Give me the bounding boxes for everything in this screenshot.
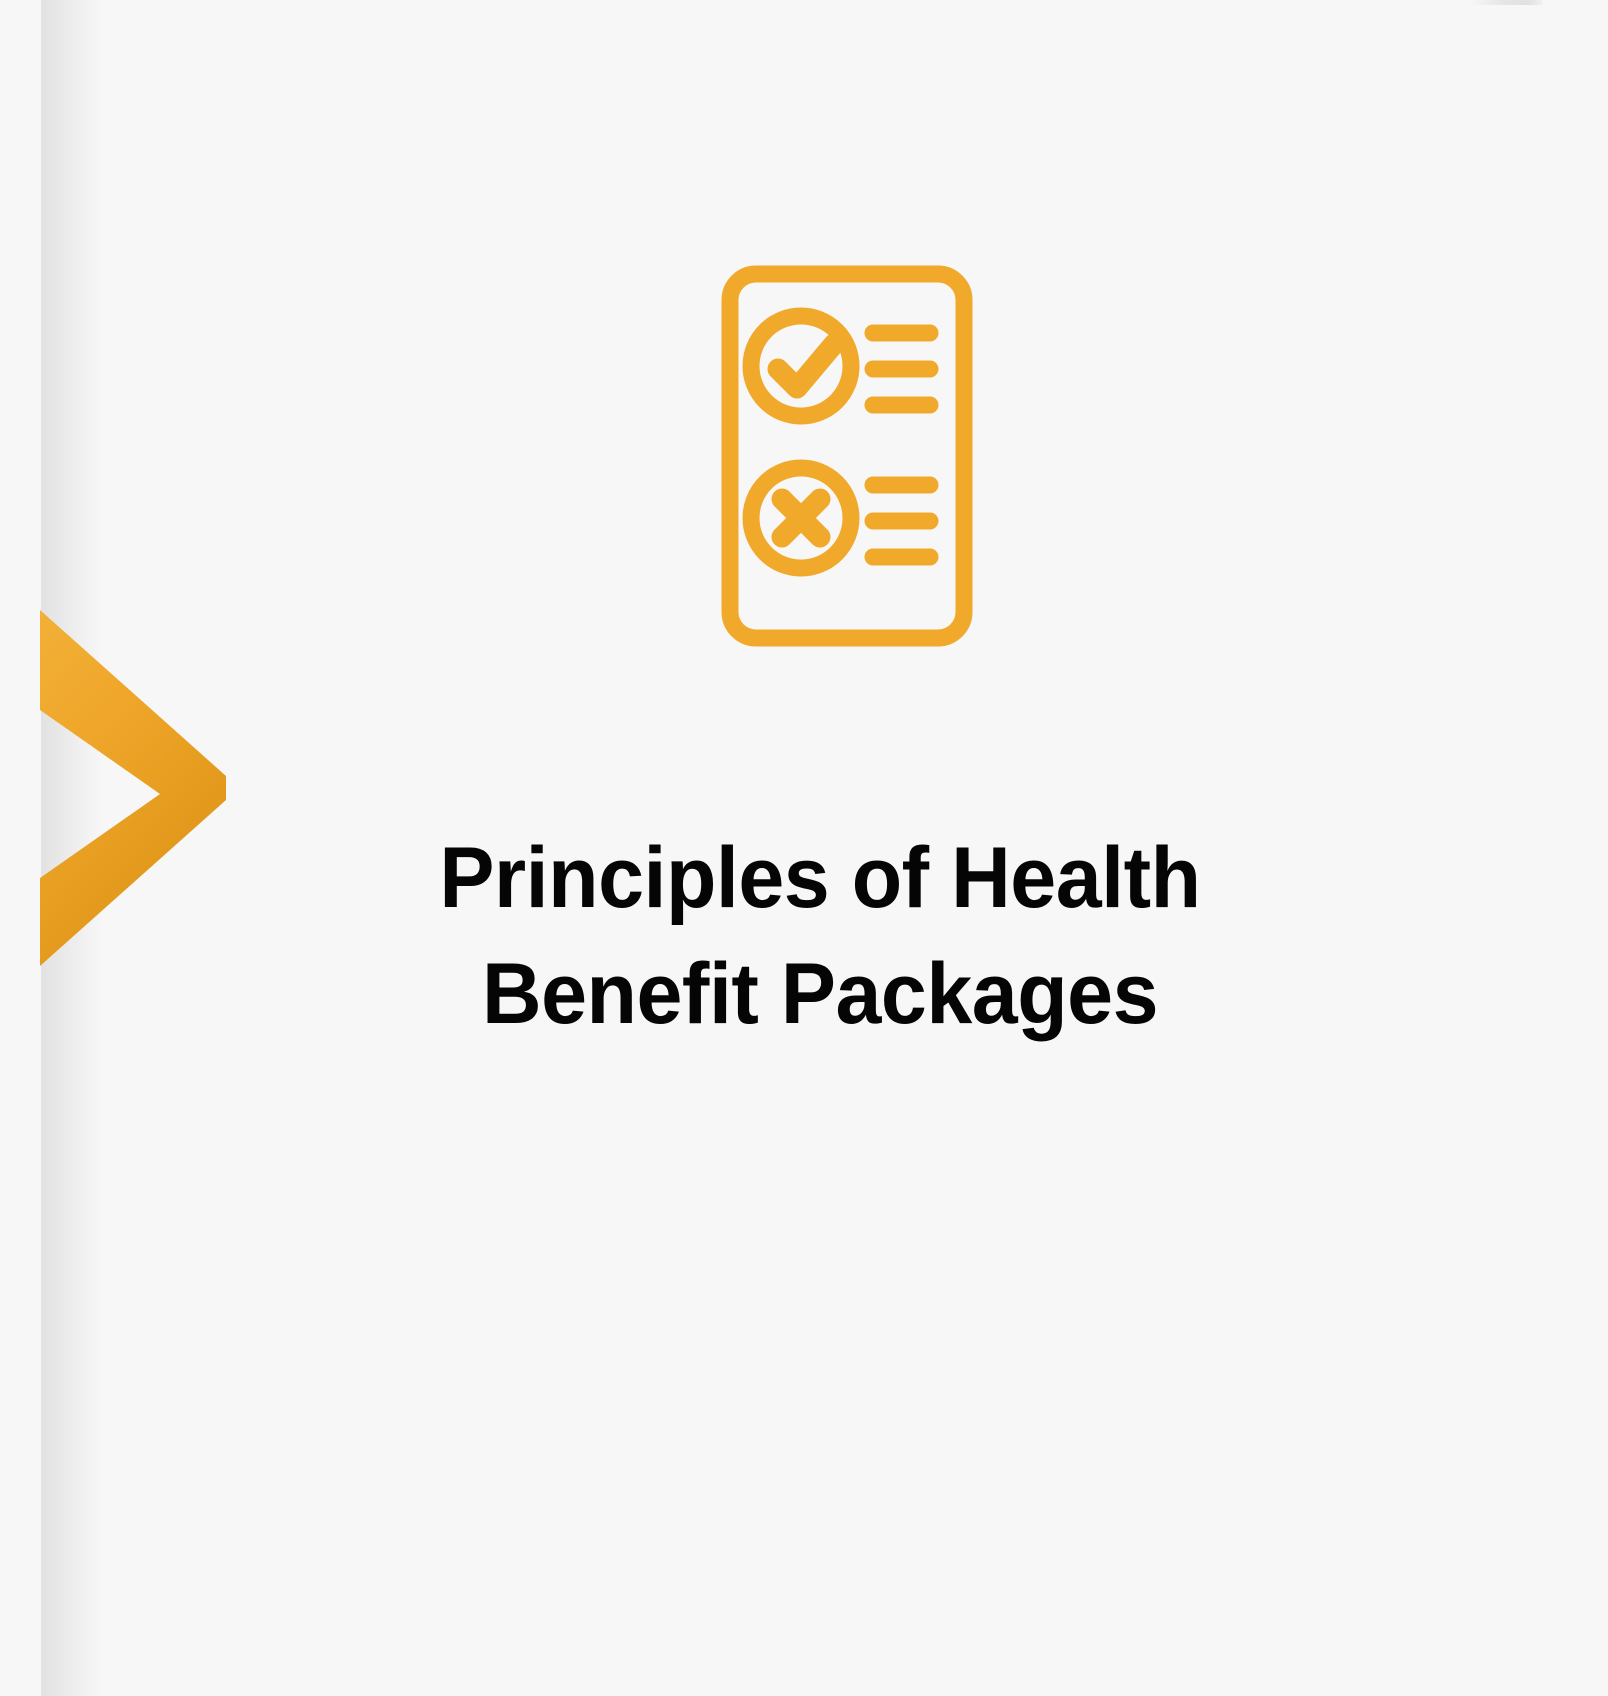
top-right-edge-strip xyxy=(1470,0,1542,5)
page-title-line-2: Benefit Packages xyxy=(321,936,1319,1052)
page-title-line-1: Principles of Health xyxy=(321,820,1319,936)
checklist-document-icon xyxy=(668,248,1024,648)
page-title: Principles of Health Benefit Packages xyxy=(300,820,1340,1052)
slide-canvas: Principles of Health Benefit Packages xyxy=(0,0,1608,1696)
chevron-right-accent xyxy=(38,598,228,968)
